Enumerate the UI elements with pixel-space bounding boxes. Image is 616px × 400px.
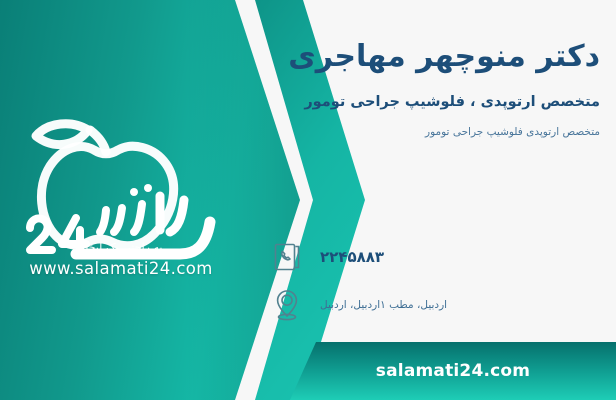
- doctor-profile-card: به راحتی یک لبخند www.salamati24.com دکت…: [0, 0, 616, 400]
- clinic-address: اردبیل، مطب ۱اردبیل، اردبیل: [314, 299, 600, 311]
- salamati24-logo: به راحتی یک لبخند www.salamati24.com: [14, 100, 228, 280]
- contact-row-address[interactable]: اردبیل، مطب ۱اردبیل، اردبیل: [270, 288, 600, 322]
- doctor-info: دکتر منوچهر مهاجری متخصص ارتوپدی ، فلوشی…: [270, 0, 600, 141]
- doctor-specialty-secondary: متخصص ارتوپدی فلوشیپ جراحی تومور: [270, 113, 600, 141]
- doctor-name: دکتر منوچهر مهاجری: [270, 0, 600, 76]
- website-url: salamati24.com: [376, 361, 530, 381]
- phone-number: ۲۲۴۵۸۸۳: [314, 248, 600, 266]
- logo-url: www.salamati24.com: [14, 259, 228, 278]
- contact-block: ۲۲۴۵۸۸۳ اردبیل، مطب ۱اردبیل، اردبیل: [270, 240, 600, 336]
- doctor-specialty: متخصص ارتوپدی ، فلوشیپ جراحی تومور: [270, 76, 600, 114]
- logo-tagline: به راحتی یک لبخند: [14, 241, 228, 254]
- map-pin-icon: [270, 288, 304, 322]
- contact-row-phone[interactable]: ۲۲۴۵۸۸۳: [270, 240, 600, 274]
- phonebook-icon: [270, 240, 304, 274]
- website-banner[interactable]: salamati24.com: [290, 342, 616, 400]
